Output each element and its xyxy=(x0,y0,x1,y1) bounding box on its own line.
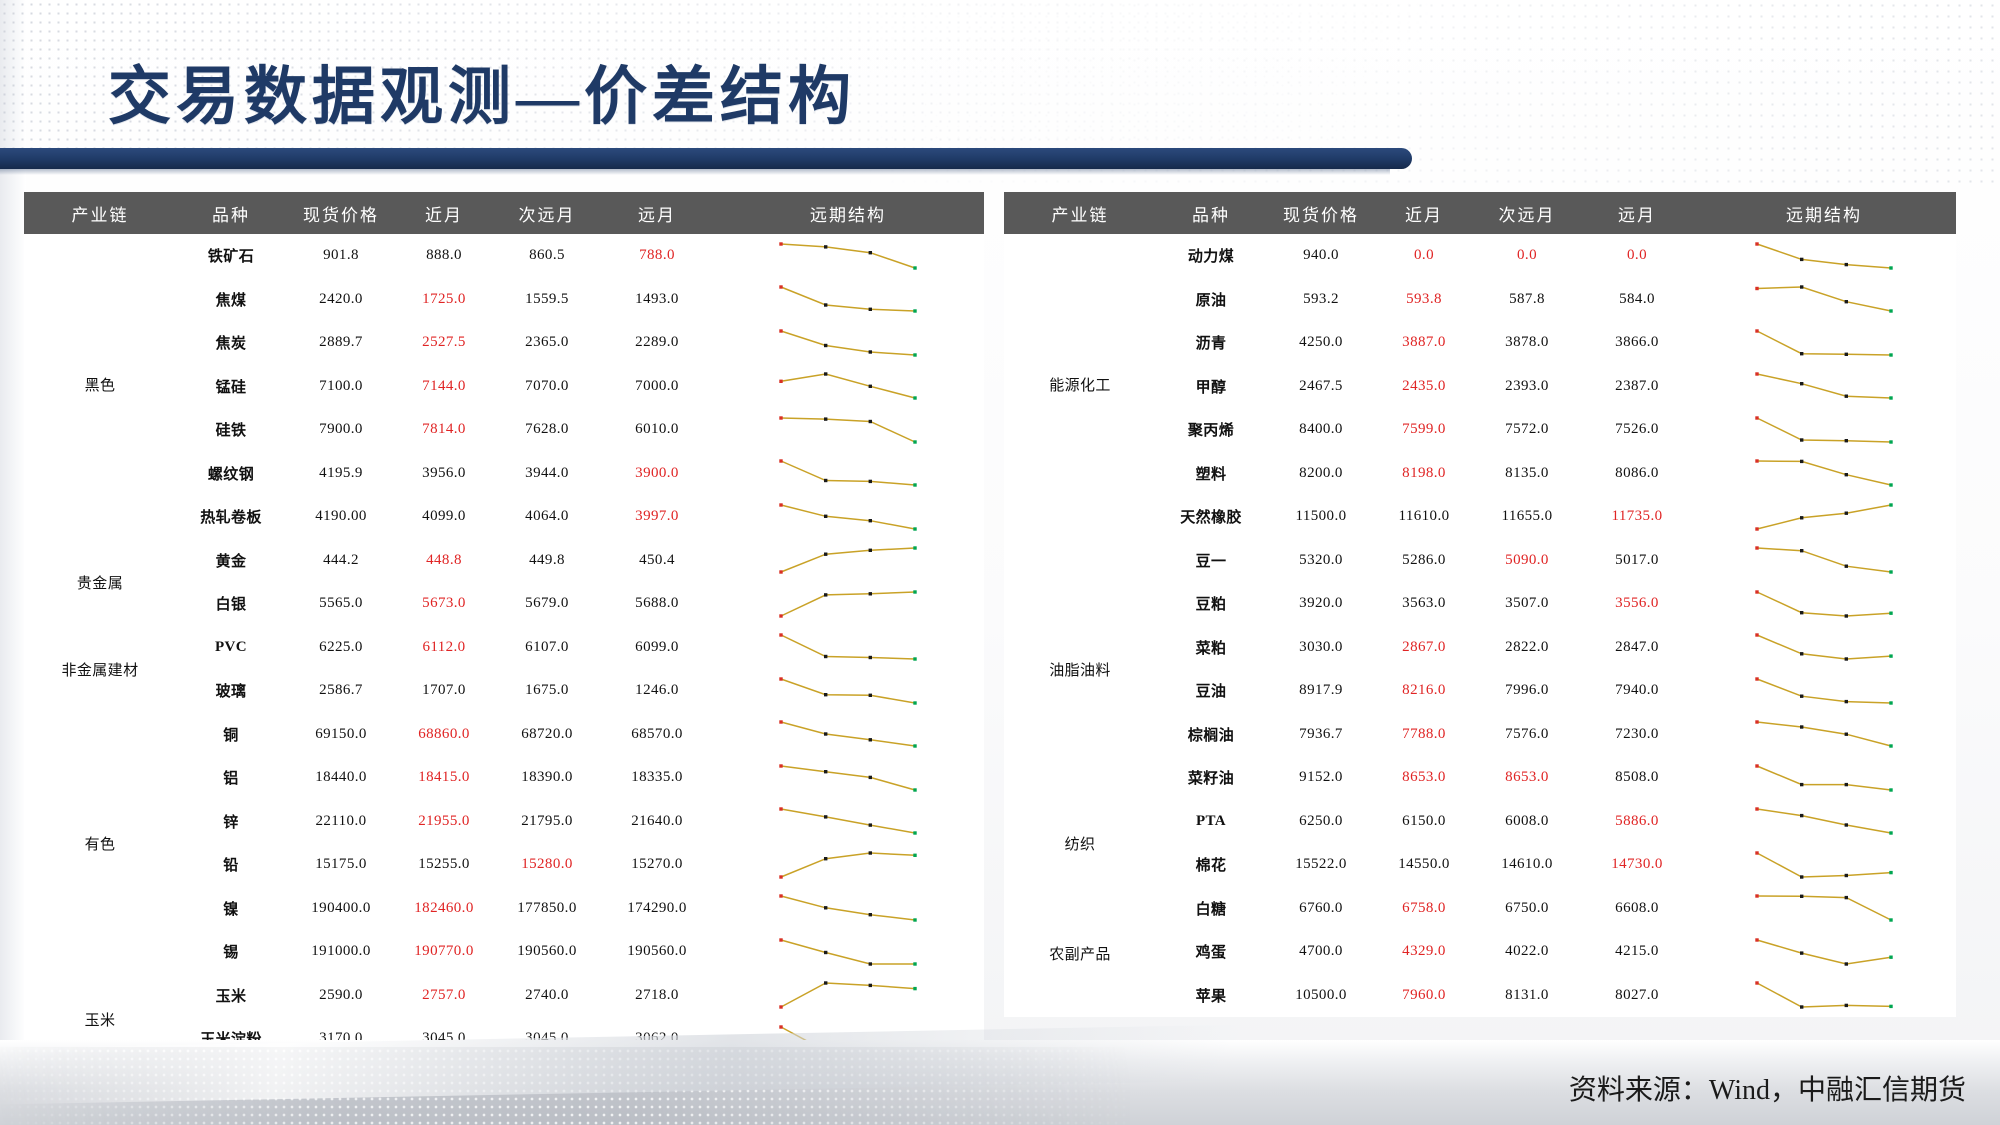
near-month-cell: 2757.0 xyxy=(396,974,492,1018)
far-month-cell: 2289.0 xyxy=(602,321,712,365)
variety-cell: 聚丙烯 xyxy=(1156,408,1266,452)
spot-price-cell: 444.2 xyxy=(286,539,396,583)
spot-price-cell: 2467.5 xyxy=(1266,365,1376,409)
far-month-cell: 3866.0 xyxy=(1582,321,1692,365)
mid-far-month-cell: 7996.0 xyxy=(1472,669,1582,713)
col-header-spot: 现货价格 xyxy=(286,192,396,234)
table-row: 有色铜69150.068860.068720.068570.0 xyxy=(24,713,984,757)
far-month-cell: 7230.0 xyxy=(1582,713,1692,757)
near-month-cell: 7788.0 xyxy=(1376,713,1472,757)
near-month-cell: 8216.0 xyxy=(1376,669,1472,713)
chain-cell: 有色 xyxy=(24,713,176,974)
spot-price-cell: 6760.0 xyxy=(1266,887,1376,931)
near-month-cell: 190770.0 xyxy=(396,930,492,974)
col-header-near: 近月 xyxy=(396,192,492,234)
far-month-cell: 584.0 xyxy=(1582,278,1692,322)
spot-price-cell: 4190.00 xyxy=(286,495,396,539)
mid-far-month-cell: 177850.0 xyxy=(492,887,602,931)
variety-cell: 甲醇 xyxy=(1156,365,1266,409)
col-header-near: 近月 xyxy=(1376,192,1472,234)
spot-price-cell: 940.0 xyxy=(1266,234,1376,278)
mid-far-month-cell: 6008.0 xyxy=(1472,800,1582,844)
near-month-cell: 2527.5 xyxy=(396,321,492,365)
far-month-cell: 788.0 xyxy=(602,234,712,278)
slide-canvas: 交易数据观测—价差结构 产业链 品种 现货价格 近月 次远月 远月 远期结构 黑… xyxy=(0,0,2000,1125)
far-month-cell: 2847.0 xyxy=(1582,626,1692,670)
forward-structure-sparkline xyxy=(1692,669,1956,713)
far-month-cell: 11735.0 xyxy=(1582,495,1692,539)
col-header-structure: 远期结构 xyxy=(1692,192,1956,234)
left-header-row: 产业链 品种 现货价格 近月 次远月 远月 远期结构 xyxy=(24,192,984,234)
variety-cell: 玉米 xyxy=(176,974,286,1018)
spot-price-cell: 2586.7 xyxy=(286,669,396,713)
mid-far-month-cell: 7576.0 xyxy=(1472,713,1582,757)
variety-cell: 沥青 xyxy=(1156,321,1266,365)
forward-structure-sparkline xyxy=(1692,408,1956,452)
mid-far-month-cell: 15280.0 xyxy=(492,843,602,887)
right-table-wrapper: 产业链 品种 现货价格 近月 次远月 远月 远期结构 能源化工动力煤940.00… xyxy=(1004,192,1956,1062)
near-month-cell: 182460.0 xyxy=(396,887,492,931)
col-header-chain: 产业链 xyxy=(24,192,176,234)
far-month-cell: 2387.0 xyxy=(1582,365,1692,409)
table-row: 黑色铁矿石901.8888.0860.5788.0 xyxy=(24,234,984,278)
far-month-cell: 5688.0 xyxy=(602,582,712,626)
col-header-structure: 远期结构 xyxy=(712,192,984,234)
spot-price-cell: 11500.0 xyxy=(1266,495,1376,539)
forward-structure-sparkline xyxy=(1692,887,1956,931)
near-month-cell: 7144.0 xyxy=(396,365,492,409)
far-month-cell: 174290.0 xyxy=(602,887,712,931)
variety-cell: 棉花 xyxy=(1156,843,1266,887)
forward-structure-sparkline xyxy=(1692,321,1956,365)
variety-cell: 锌 xyxy=(176,800,286,844)
mid-far-month-cell: 1675.0 xyxy=(492,669,602,713)
far-month-cell: 14730.0 xyxy=(1582,843,1692,887)
forward-structure-sparkline xyxy=(1692,930,1956,974)
far-month-cell: 8027.0 xyxy=(1582,974,1692,1018)
mid-far-month-cell: 3944.0 xyxy=(492,452,602,496)
chain-cell: 能源化工 xyxy=(1004,234,1156,539)
mid-far-month-cell: 2740.0 xyxy=(492,974,602,1018)
near-month-cell: 0.0 xyxy=(1376,234,1472,278)
far-month-cell: 450.4 xyxy=(602,539,712,583)
table-row: 能源化工动力煤940.00.00.00.0 xyxy=(1004,234,1956,278)
forward-structure-sparkline xyxy=(712,495,984,539)
spot-price-cell: 22110.0 xyxy=(286,800,396,844)
variety-cell: 焦煤 xyxy=(176,278,286,322)
col-header-mid: 次远月 xyxy=(1472,192,1582,234)
forward-structure-sparkline xyxy=(712,278,984,322)
variety-cell: 菜籽油 xyxy=(1156,756,1266,800)
forward-structure-sparkline xyxy=(712,408,984,452)
variety-cell: 黄金 xyxy=(176,539,286,583)
spot-price-cell: 901.8 xyxy=(286,234,396,278)
spot-price-cell: 10500.0 xyxy=(1266,974,1376,1018)
chain-cell: 油脂油料 xyxy=(1004,539,1156,800)
forward-structure-sparkline xyxy=(1692,582,1956,626)
variety-cell: 玻璃 xyxy=(176,669,286,713)
table-row: 非金属建材PVC6225.06112.06107.06099.0 xyxy=(24,626,984,670)
far-month-cell: 4215.0 xyxy=(1582,930,1692,974)
variety-cell: 螺纹钢 xyxy=(176,452,286,496)
variety-cell: PTA xyxy=(1156,800,1266,844)
tables-container: 产业链 品种 现货价格 近月 次远月 远月 远期结构 黑色铁矿石901.8888… xyxy=(24,192,1976,1062)
spot-price-cell: 9152.0 xyxy=(1266,756,1376,800)
col-header-mid: 次远月 xyxy=(492,192,602,234)
forward-structure-sparkline xyxy=(712,669,984,713)
table-row: 油脂油料豆一5320.05286.05090.05017.0 xyxy=(1004,539,1956,583)
near-month-cell: 1707.0 xyxy=(396,669,492,713)
near-month-cell: 14550.0 xyxy=(1376,843,1472,887)
variety-cell: 白糖 xyxy=(1156,887,1266,931)
mid-far-month-cell: 21795.0 xyxy=(492,800,602,844)
far-month-cell: 18335.0 xyxy=(602,756,712,800)
near-month-cell: 3956.0 xyxy=(396,452,492,496)
near-month-cell: 4329.0 xyxy=(1376,930,1472,974)
forward-structure-sparkline xyxy=(712,843,984,887)
spot-price-cell: 7100.0 xyxy=(286,365,396,409)
forward-structure-sparkline xyxy=(1692,365,1956,409)
forward-structure-sparkline xyxy=(1692,756,1956,800)
variety-cell: 锡 xyxy=(176,930,286,974)
col-header-variety: 品种 xyxy=(1156,192,1266,234)
forward-structure-sparkline xyxy=(1692,452,1956,496)
spot-price-cell: 2590.0 xyxy=(286,974,396,1018)
forward-structure-sparkline xyxy=(712,321,984,365)
forward-structure-sparkline xyxy=(712,452,984,496)
left-table-head: 产业链 品种 现货价格 近月 次远月 远月 远期结构 xyxy=(24,192,984,234)
mid-far-month-cell: 11655.0 xyxy=(1472,495,1582,539)
near-month-cell: 1725.0 xyxy=(396,278,492,322)
far-month-cell: 68570.0 xyxy=(602,713,712,757)
col-header-chain: 产业链 xyxy=(1004,192,1156,234)
forward-structure-sparkline xyxy=(712,974,984,1018)
variety-cell: 动力煤 xyxy=(1156,234,1266,278)
chain-cell: 贵金属 xyxy=(24,539,176,626)
table-row: 纺织PTA6250.06150.06008.05886.0 xyxy=(1004,800,1956,844)
left-table-body: 黑色铁矿石901.8888.0860.5788.0焦煤2420.01725.01… xyxy=(24,234,984,1061)
variety-cell: 锰硅 xyxy=(176,365,286,409)
spot-price-cell: 4195.9 xyxy=(286,452,396,496)
mid-far-month-cell: 4022.0 xyxy=(1472,930,1582,974)
near-month-cell: 6112.0 xyxy=(396,626,492,670)
variety-cell: 鸡蛋 xyxy=(1156,930,1266,974)
spot-price-cell: 593.2 xyxy=(1266,278,1376,322)
far-month-cell: 7940.0 xyxy=(1582,669,1692,713)
far-month-cell: 5886.0 xyxy=(1582,800,1692,844)
variety-cell: 棕榈油 xyxy=(1156,713,1266,757)
mid-far-month-cell: 4064.0 xyxy=(492,495,602,539)
forward-structure-sparkline xyxy=(1692,843,1956,887)
spot-price-cell: 190400.0 xyxy=(286,887,396,931)
forward-structure-sparkline xyxy=(712,887,984,931)
far-month-cell: 3997.0 xyxy=(602,495,712,539)
forward-structure-sparkline xyxy=(1692,495,1956,539)
spot-price-cell: 3030.0 xyxy=(1266,626,1376,670)
far-month-cell: 1493.0 xyxy=(602,278,712,322)
variety-cell: PVC xyxy=(176,626,286,670)
variety-cell: 豆粕 xyxy=(1156,582,1266,626)
forward-structure-sparkline xyxy=(1692,539,1956,583)
variety-cell: 铅 xyxy=(176,843,286,887)
variety-cell: 铝 xyxy=(176,756,286,800)
near-month-cell: 2867.0 xyxy=(1376,626,1472,670)
spot-price-cell: 191000.0 xyxy=(286,930,396,974)
mid-far-month-cell: 1559.5 xyxy=(492,278,602,322)
near-month-cell: 8653.0 xyxy=(1376,756,1472,800)
forward-structure-sparkline xyxy=(712,800,984,844)
mid-far-month-cell: 3878.0 xyxy=(1472,321,1582,365)
variety-cell: 豆油 xyxy=(1156,669,1266,713)
mid-far-month-cell: 5679.0 xyxy=(492,582,602,626)
mid-far-month-cell: 7070.0 xyxy=(492,365,602,409)
near-month-cell: 68860.0 xyxy=(396,713,492,757)
forward-structure-sparkline xyxy=(712,582,984,626)
far-month-cell: 0.0 xyxy=(1582,234,1692,278)
col-header-spot: 现货价格 xyxy=(1266,192,1376,234)
spot-price-cell: 7936.7 xyxy=(1266,713,1376,757)
col-header-far: 远月 xyxy=(602,192,712,234)
near-month-cell: 7599.0 xyxy=(1376,408,1472,452)
table-row: 贵金属黄金444.2448.8449.8450.4 xyxy=(24,539,984,583)
near-month-cell: 15255.0 xyxy=(396,843,492,887)
mid-far-month-cell: 7628.0 xyxy=(492,408,602,452)
mid-far-month-cell: 0.0 xyxy=(1472,234,1582,278)
page-title: 交易数据观测—价差结构 xyxy=(108,46,856,137)
variety-cell: 铜 xyxy=(176,713,286,757)
near-month-cell: 7814.0 xyxy=(396,408,492,452)
forward-structure-sparkline xyxy=(712,539,984,583)
near-month-cell: 5673.0 xyxy=(396,582,492,626)
navy-divider-bar xyxy=(0,148,1412,169)
spot-price-cell: 8200.0 xyxy=(1266,452,1376,496)
forward-structure-sparkline xyxy=(1692,234,1956,278)
far-month-cell: 190560.0 xyxy=(602,930,712,974)
near-month-cell: 3887.0 xyxy=(1376,321,1472,365)
far-month-cell: 3900.0 xyxy=(602,452,712,496)
variety-cell: 苹果 xyxy=(1156,974,1266,1018)
forward-structure-sparkline xyxy=(1692,626,1956,670)
chain-cell: 农副产品 xyxy=(1004,887,1156,1018)
far-month-cell: 6608.0 xyxy=(1582,887,1692,931)
spot-price-cell: 15522.0 xyxy=(1266,843,1376,887)
far-month-cell: 3556.0 xyxy=(1582,582,1692,626)
spot-price-cell: 2889.7 xyxy=(286,321,396,365)
variety-cell: 菜粕 xyxy=(1156,626,1266,670)
mid-far-month-cell: 2365.0 xyxy=(492,321,602,365)
near-month-cell: 448.8 xyxy=(396,539,492,583)
near-month-cell: 2435.0 xyxy=(1376,365,1472,409)
far-month-cell: 8086.0 xyxy=(1582,452,1692,496)
mid-far-month-cell: 860.5 xyxy=(492,234,602,278)
col-header-far: 远月 xyxy=(1582,192,1692,234)
variety-cell: 原油 xyxy=(1156,278,1266,322)
spot-price-cell: 6225.0 xyxy=(286,626,396,670)
mid-far-month-cell: 8653.0 xyxy=(1472,756,1582,800)
near-month-cell: 21955.0 xyxy=(396,800,492,844)
far-month-cell: 6010.0 xyxy=(602,408,712,452)
spot-price-cell: 5320.0 xyxy=(1266,539,1376,583)
spot-price-cell: 18440.0 xyxy=(286,756,396,800)
near-month-cell: 6758.0 xyxy=(1376,887,1472,931)
spot-price-cell: 69150.0 xyxy=(286,713,396,757)
near-month-cell: 6150.0 xyxy=(1376,800,1472,844)
left-table-wrapper: 产业链 品种 现货价格 近月 次远月 远月 远期结构 黑色铁矿石901.8888… xyxy=(24,192,984,1062)
spot-price-cell: 8917.9 xyxy=(1266,669,1376,713)
forward-structure-sparkline xyxy=(712,756,984,800)
mid-far-month-cell: 449.8 xyxy=(492,539,602,583)
mid-far-month-cell: 8131.0 xyxy=(1472,974,1582,1018)
variety-cell: 硅铁 xyxy=(176,408,286,452)
right-table-head: 产业链 品种 现货价格 近月 次远月 远月 远期结构 xyxy=(1004,192,1956,234)
variety-cell: 豆一 xyxy=(1156,539,1266,583)
forward-structure-sparkline xyxy=(1692,278,1956,322)
forward-structure-sparkline xyxy=(712,713,984,757)
spot-price-cell: 4250.0 xyxy=(1266,321,1376,365)
mid-far-month-cell: 8135.0 xyxy=(1472,452,1582,496)
mid-far-month-cell: 587.8 xyxy=(1472,278,1582,322)
forward-structure-sparkline xyxy=(1692,800,1956,844)
forward-structure-sparkline xyxy=(712,930,984,974)
near-month-cell: 8198.0 xyxy=(1376,452,1472,496)
mid-far-month-cell: 3507.0 xyxy=(1472,582,1582,626)
forward-structure-sparkline xyxy=(1692,974,1956,1018)
spot-price-cell: 7900.0 xyxy=(286,408,396,452)
right-header-row: 产业链 品种 现货价格 近月 次远月 远月 远期结构 xyxy=(1004,192,1956,234)
forward-structure-sparkline xyxy=(1692,713,1956,757)
far-month-cell: 8508.0 xyxy=(1582,756,1692,800)
price-spread-table-right: 产业链 品种 现货价格 近月 次远月 远月 远期结构 能源化工动力煤940.00… xyxy=(1004,192,1956,1017)
forward-structure-sparkline xyxy=(712,626,984,670)
variety-cell: 塑料 xyxy=(1156,452,1266,496)
variety-cell: 焦炭 xyxy=(176,321,286,365)
far-month-cell: 21640.0 xyxy=(602,800,712,844)
variety-cell: 白银 xyxy=(176,582,286,626)
far-month-cell: 15270.0 xyxy=(602,843,712,887)
spot-price-cell: 2420.0 xyxy=(286,278,396,322)
near-month-cell: 4099.0 xyxy=(396,495,492,539)
mid-far-month-cell: 2822.0 xyxy=(1472,626,1582,670)
forward-structure-sparkline xyxy=(712,234,984,278)
chain-cell: 黑色 xyxy=(24,234,176,539)
variety-cell: 铁矿石 xyxy=(176,234,286,278)
spot-price-cell: 15175.0 xyxy=(286,843,396,887)
mid-far-month-cell: 5090.0 xyxy=(1472,539,1582,583)
mid-far-month-cell: 6750.0 xyxy=(1472,887,1582,931)
far-month-cell: 7000.0 xyxy=(602,365,712,409)
far-month-cell: 5017.0 xyxy=(1582,539,1692,583)
table-row: 玉米玉米2590.02757.02740.02718.0 xyxy=(24,974,984,1018)
near-month-cell: 18415.0 xyxy=(396,756,492,800)
far-month-cell: 2718.0 xyxy=(602,974,712,1018)
mid-far-month-cell: 68720.0 xyxy=(492,713,602,757)
price-spread-table-left: 产业链 品种 现货价格 近月 次远月 远月 远期结构 黑色铁矿石901.8888… xyxy=(24,192,984,1061)
far-month-cell: 7526.0 xyxy=(1582,408,1692,452)
near-month-cell: 593.8 xyxy=(1376,278,1472,322)
variety-cell: 热轧卷板 xyxy=(176,495,286,539)
right-table-body: 能源化工动力煤940.00.00.00.0原油593.2593.8587.858… xyxy=(1004,234,1956,1017)
mid-far-month-cell: 6107.0 xyxy=(492,626,602,670)
near-month-cell: 888.0 xyxy=(396,234,492,278)
mid-far-month-cell: 7572.0 xyxy=(1472,408,1582,452)
chain-cell: 纺织 xyxy=(1004,800,1156,887)
spot-price-cell: 3920.0 xyxy=(1266,582,1376,626)
variety-cell: 镍 xyxy=(176,887,286,931)
chain-cell: 非金属建材 xyxy=(24,626,176,713)
near-month-cell: 3563.0 xyxy=(1376,582,1472,626)
near-month-cell: 11610.0 xyxy=(1376,495,1472,539)
variety-cell: 天然橡胶 xyxy=(1156,495,1266,539)
mid-far-month-cell: 14610.0 xyxy=(1472,843,1582,887)
far-month-cell: 1246.0 xyxy=(602,669,712,713)
mid-far-month-cell: 190560.0 xyxy=(492,930,602,974)
mid-far-month-cell: 2393.0 xyxy=(1472,365,1582,409)
spot-price-cell: 4700.0 xyxy=(1266,930,1376,974)
near-month-cell: 7960.0 xyxy=(1376,974,1472,1018)
table-row: 农副产品白糖6760.06758.06750.06608.0 xyxy=(1004,887,1956,931)
far-month-cell: 6099.0 xyxy=(602,626,712,670)
spot-price-cell: 6250.0 xyxy=(1266,800,1376,844)
source-note: 资料来源：Wind，中融汇信期货 xyxy=(1569,1068,1966,1108)
spot-price-cell: 8400.0 xyxy=(1266,408,1376,452)
mid-far-month-cell: 18390.0 xyxy=(492,756,602,800)
forward-structure-sparkline xyxy=(712,365,984,409)
near-month-cell: 5286.0 xyxy=(1376,539,1472,583)
spot-price-cell: 5565.0 xyxy=(286,582,396,626)
col-header-variety: 品种 xyxy=(176,192,286,234)
